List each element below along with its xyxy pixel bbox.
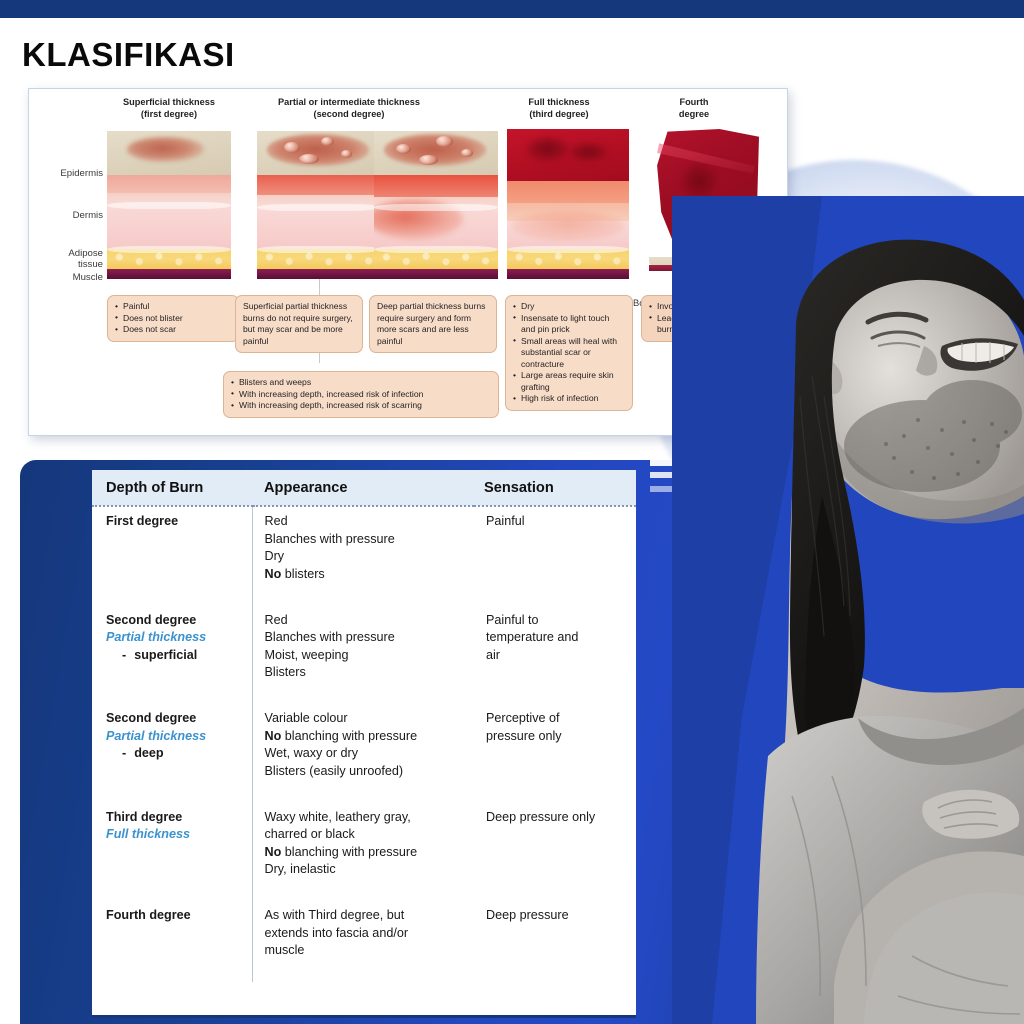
column-header-depth: Depth of Burn bbox=[92, 470, 252, 506]
anatomy-label-group: Epidermis Dermis Adipose tissue Muscle bbox=[33, 149, 103, 349]
callout-second-degree-shared: Blisters and weeps With increasing depth… bbox=[223, 371, 499, 418]
sensation-line: pressure only bbox=[486, 728, 628, 746]
callout-paragraph: Superficial partial thickness burns do n… bbox=[243, 301, 355, 347]
table-row: Second degree Partial thickness -deep Va… bbox=[92, 704, 636, 803]
appearance-line: As with Third degree, but bbox=[265, 907, 467, 925]
dash-marker: - bbox=[122, 746, 134, 760]
depth-main: Third degree bbox=[106, 809, 244, 827]
cell-appearance: As with Third degree, but extends into f… bbox=[252, 901, 474, 982]
sensation-line: Deep pressure bbox=[486, 907, 628, 925]
depth-sub: Partial thickness bbox=[106, 728, 244, 746]
cell-depth: Fourth degree bbox=[92, 901, 252, 982]
cell-appearance: Red Blanches with pressure Dry No bliste… bbox=[252, 506, 474, 606]
skin-block-superficial bbox=[107, 131, 231, 279]
emphasis-no: No bbox=[265, 567, 282, 581]
cell-appearance: Variable colour No blanching with pressu… bbox=[252, 704, 474, 803]
table-row: Second degree Partial thickness -superfi… bbox=[92, 606, 636, 705]
header-line1: Full thickness bbox=[484, 97, 634, 109]
callout-item: Painful bbox=[115, 301, 231, 313]
callout-item: Small areas will heal with substantial s… bbox=[513, 336, 625, 371]
depth-sub: Partial thickness bbox=[106, 629, 244, 647]
appearance-line: charred or black bbox=[265, 826, 467, 844]
diagram-column-header-fourth: Fourth degree bbox=[649, 97, 739, 121]
header-line2: (third degree) bbox=[484, 109, 634, 121]
depth-sub2-label: superficial bbox=[134, 648, 197, 662]
burn-classification-table-card: Depth of Burn Appearance Sensation First… bbox=[92, 470, 636, 1018]
callout-deep-partial: Deep partial thickness burns require sur… bbox=[369, 295, 497, 353]
skin-block-deep-partial bbox=[374, 131, 498, 279]
depth-main: Second degree bbox=[106, 612, 244, 630]
appearance-line: muscle bbox=[265, 942, 467, 960]
callout-item: With increasing depth, increased risk of… bbox=[231, 400, 491, 412]
emphasis-no: No bbox=[265, 845, 282, 859]
anatomy-label-muscle: Muscle bbox=[73, 273, 103, 284]
table-row: First degree Red Blanches with pressure … bbox=[92, 506, 636, 606]
anatomy-label-dermis: Dermis bbox=[73, 211, 103, 222]
slide-canvas: KLASIFIKASI Superficial thickness (first… bbox=[0, 0, 1024, 1024]
appearance-line: Blisters (easily unroofed) bbox=[265, 763, 467, 781]
callout-item: Does not blister bbox=[115, 313, 231, 325]
cell-sensation: Painful to temperature and air bbox=[474, 606, 636, 705]
page-title: KLASIFIKASI bbox=[22, 36, 235, 74]
skin-block-superficial-partial bbox=[257, 131, 381, 279]
column-header-appearance: Appearance bbox=[252, 470, 474, 506]
callout-item: Dry bbox=[513, 301, 625, 313]
callout-item: Does not scar bbox=[115, 324, 231, 336]
appearance-line: extends into fascia and/or bbox=[265, 925, 467, 943]
callout-item: Blisters and weeps bbox=[231, 377, 491, 389]
cell-depth: Third degree Full thickness bbox=[92, 803, 252, 902]
depth-main: Fourth degree bbox=[106, 907, 244, 925]
table-bottom-rule bbox=[92, 1015, 636, 1018]
sensation-line: Painful to bbox=[486, 612, 628, 630]
header-line2: (second degree) bbox=[229, 109, 469, 121]
callout-item: Large areas require skin grafting bbox=[513, 370, 625, 393]
appearance-line: Dry, inelastic bbox=[265, 861, 467, 879]
cell-depth: First degree bbox=[92, 506, 252, 606]
callout-superficial-partial: Superficial partial thickness burns do n… bbox=[235, 295, 363, 353]
appearance-line: Red bbox=[265, 612, 467, 630]
sensation-line: air bbox=[486, 647, 628, 665]
appearance-line: Blisters bbox=[265, 664, 467, 682]
cell-sensation: Painful bbox=[474, 506, 636, 606]
table-header-row: Depth of Burn Appearance Sensation bbox=[92, 470, 636, 506]
cell-sensation: Perceptive of pressure only bbox=[474, 704, 636, 803]
appearance-line: Moist, weeping bbox=[265, 647, 467, 665]
callout-full-thickness: Dry Insensate to light touch and pin pri… bbox=[505, 295, 633, 411]
cell-depth: Second degree Partial thickness -deep bbox=[92, 704, 252, 803]
depth-sub2: -deep bbox=[106, 745, 244, 763]
table-row: Third degree Full thickness Waxy white, … bbox=[92, 803, 636, 902]
blister-bubble bbox=[461, 149, 473, 157]
header-line1: Superficial thickness bbox=[89, 97, 249, 109]
dash-marker: - bbox=[122, 648, 134, 662]
anatomy-label-epidermis: Epidermis bbox=[60, 169, 103, 180]
cell-depth: Second degree Partial thickness -superfi… bbox=[92, 606, 252, 705]
sensation-line: Deep pressure only bbox=[486, 809, 628, 827]
diagram-column-header-superficial: Superficial thickness (first degree) bbox=[89, 97, 249, 121]
top-navy-bar bbox=[0, 0, 1024, 18]
depth-sub: Full thickness bbox=[106, 826, 244, 844]
cell-sensation: Deep pressure only bbox=[474, 803, 636, 902]
header-line2: (first degree) bbox=[89, 109, 249, 121]
appearance-line: Blanches with pressure bbox=[265, 531, 467, 549]
appearance-line: No blanching with pressure bbox=[265, 728, 467, 746]
depth-main: Second degree bbox=[106, 710, 244, 728]
anatomy-label-tissue: tissue bbox=[78, 260, 103, 271]
header-line1: Partial or intermediate thickness bbox=[229, 97, 469, 109]
cell-appearance: Waxy white, leathery gray, charred or bl… bbox=[252, 803, 474, 902]
column-header-sensation: Sensation bbox=[474, 470, 636, 506]
depth-main: First degree bbox=[106, 513, 244, 531]
appearance-line: Waxy white, leathery gray, bbox=[265, 809, 467, 827]
header-line2: degree bbox=[649, 109, 739, 121]
appearance-line: Dry bbox=[265, 548, 467, 566]
emphasis-no: No bbox=[265, 729, 282, 743]
diagram-column-header-full: Full thickness (third degree) bbox=[484, 97, 634, 121]
appearance-line: Wet, waxy or dry bbox=[265, 745, 467, 763]
appearance-line: Red bbox=[265, 513, 467, 531]
appearance-line: No blisters bbox=[265, 566, 467, 584]
pain-photo bbox=[672, 196, 1024, 1024]
callout-paragraph: Deep partial thickness burns require sur… bbox=[377, 301, 489, 347]
burn-classification-table: Depth of Burn Appearance Sensation First… bbox=[92, 470, 636, 982]
appearance-line: No blanching with pressure bbox=[265, 844, 467, 862]
cell-appearance: Red Blanches with pressure Moist, weepin… bbox=[252, 606, 474, 705]
depth-sub2-label: deep bbox=[134, 746, 163, 760]
table-row: Fourth degree As with Third degree, but … bbox=[92, 901, 636, 982]
cell-sensation: Deep pressure bbox=[474, 901, 636, 982]
skin-block-full-thickness bbox=[507, 129, 629, 279]
depth-sub2: -superficial bbox=[106, 647, 244, 665]
sensation-line: Painful bbox=[486, 513, 628, 531]
appearance-line: Variable colour bbox=[265, 710, 467, 728]
callout-item: High risk of infection bbox=[513, 393, 625, 405]
callout-item: With increasing depth, increased risk of… bbox=[231, 389, 491, 401]
blister-bubble bbox=[419, 155, 438, 165]
diagram-column-header-partial: Partial or intermediate thickness (secon… bbox=[229, 97, 469, 121]
blister-bubble bbox=[299, 154, 319, 164]
callout-item: Insensate to light touch and pin prick bbox=[513, 313, 625, 336]
sensation-line: Perceptive of bbox=[486, 710, 628, 728]
appearance-line: Blanches with pressure bbox=[265, 629, 467, 647]
callout-first-degree: Painful Does not blister Does not scar bbox=[107, 295, 239, 342]
sensation-line: temperature and bbox=[486, 629, 628, 647]
lesion-shading bbox=[127, 137, 204, 162]
header-line1: Fourth bbox=[649, 97, 739, 109]
